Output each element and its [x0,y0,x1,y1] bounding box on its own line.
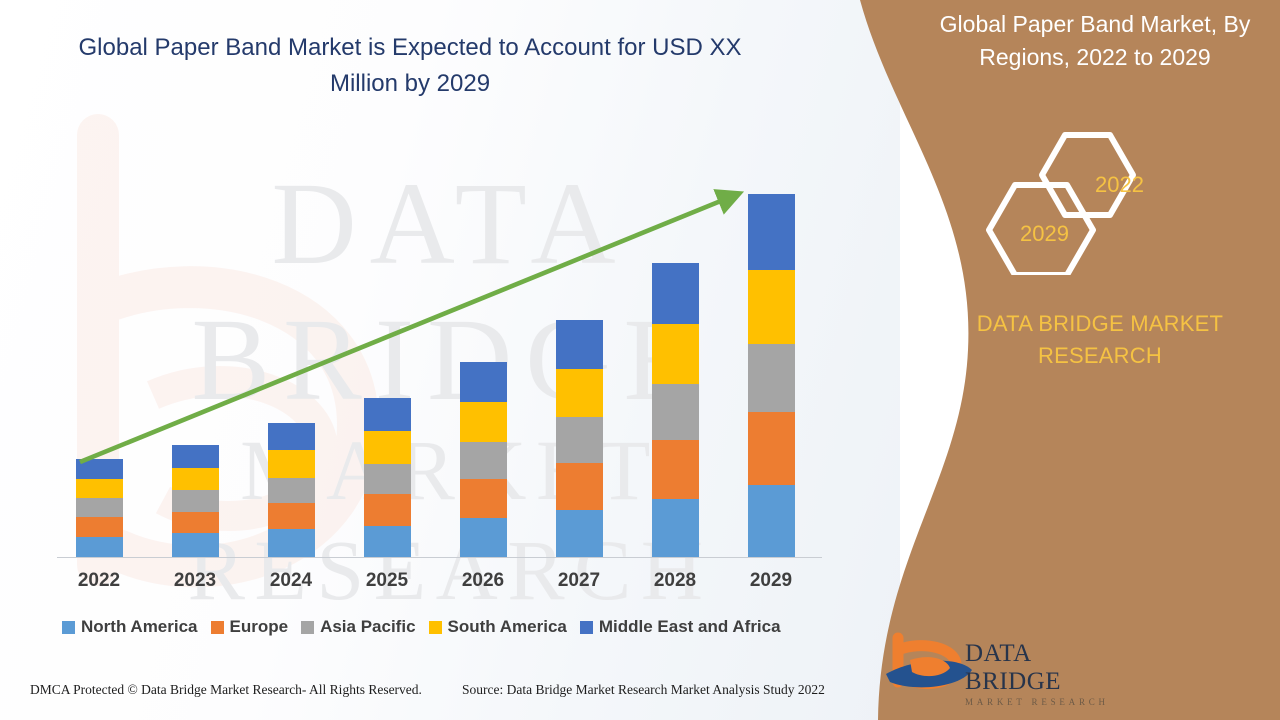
x-axis-label-2028: 2028 [635,570,715,592]
bar-segment [76,479,123,498]
legend-swatch-icon [62,621,75,634]
x-axis-labels: 20222023202420252026202720282029 [0,570,900,598]
bar-segment [268,423,315,449]
bar-segment [76,498,123,517]
logo-main-text: DATA BRIDGE [965,640,1115,696]
legend-item[interactable]: South America [429,617,567,637]
bar-segment [172,512,219,533]
x-axis-label-2026: 2026 [443,570,523,592]
x-axis-label-2023: 2023 [155,570,235,592]
source-note: Source: Data Bridge Market Research Mark… [462,682,825,698]
bar-segment [556,320,603,369]
stacked-bar-chart: 20222023202420252026202720282029 [0,0,900,720]
bar-segment [268,503,315,529]
x-axis-label-2027: 2027 [539,570,619,592]
logo-wordmark: DATA BRIDGE MARKET RESEARCH [965,640,1115,708]
bar-segment [76,517,123,537]
bar-segment [556,463,603,511]
hexagon-pair-icon [975,125,1190,275]
hex-label-2029: 2029 [1020,221,1069,247]
panel-title: Global Paper Band Market, By Regions, 20… [920,8,1270,74]
bar-2026[interactable] [460,362,507,557]
legend-swatch-icon [211,621,224,634]
bar-segment [748,194,795,270]
bar-segment [364,494,411,526]
bar-segment [364,431,411,464]
bar-segment [172,468,219,491]
bar-segment [268,478,315,503]
bar-segment [556,417,603,462]
bar-segment [364,464,411,494]
x-axis-label-2025: 2025 [347,570,427,592]
bar-segment [556,510,603,557]
legend-item[interactable]: North America [62,617,198,637]
dmca-notice: DMCA Protected © Data Bridge Market Rese… [30,682,422,698]
legend-label: Europe [230,617,289,637]
chart-legend: North AmericaEuropeAsia PacificSouth Ame… [62,617,781,637]
x-axis-label-2024: 2024 [251,570,331,592]
bar-2028[interactable] [652,263,699,557]
bar-segment [460,402,507,442]
bar-2027[interactable] [556,320,603,557]
x-axis-line [57,557,822,558]
hex-label-2022: 2022 [1095,172,1144,198]
legend-item[interactable]: Asia Pacific [301,617,415,637]
bar-segment [76,459,123,479]
legend-label: North America [81,617,198,637]
bar-segment [652,324,699,384]
bar-segment [556,369,603,417]
bar-segment [172,490,219,511]
bar-segment [748,485,795,557]
legend-label: Asia Pacific [320,617,415,637]
bar-segment [172,445,219,468]
bar-segment [652,384,699,439]
bar-2024[interactable] [268,423,315,557]
legend-item[interactable]: Europe [211,617,289,637]
legend-swatch-icon [580,621,593,634]
x-axis-label-2029: 2029 [731,570,811,592]
bar-segment [748,412,795,485]
brand-name: DATA BRIDGE MARKET RESEARCH [940,308,1260,372]
bar-segment [460,442,507,479]
bar-2022[interactable] [76,459,123,557]
bar-segment [76,537,123,557]
bar-segment [172,533,219,557]
bar-segment [652,499,699,557]
bar-2023[interactable] [172,445,219,557]
bar-segment [268,529,315,557]
bar-segment [460,479,507,518]
bar-segment [364,398,411,431]
bar-2025[interactable] [364,398,411,557]
x-axis-label-2022: 2022 [59,570,139,592]
legend-item[interactable]: Middle East and Africa [580,617,781,637]
bar-segment [268,450,315,478]
bar-segment [460,518,507,557]
legend-label: Middle East and Africa [599,617,781,637]
infographic-canvas: DATA BRIDGE MARKET RESEARCH Global Paper… [0,0,1280,720]
legend-swatch-icon [429,621,442,634]
legend-swatch-icon [301,621,314,634]
bar-segment [364,526,411,558]
bar-segment [460,362,507,402]
bar-segment [652,440,699,499]
bar-2029[interactable] [748,194,795,557]
bar-segment [652,263,699,323]
bar-segment [748,344,795,412]
legend-label: South America [448,617,567,637]
bar-segment [748,270,795,344]
logo-sub-text: MARKET RESEARCH [965,696,1115,708]
